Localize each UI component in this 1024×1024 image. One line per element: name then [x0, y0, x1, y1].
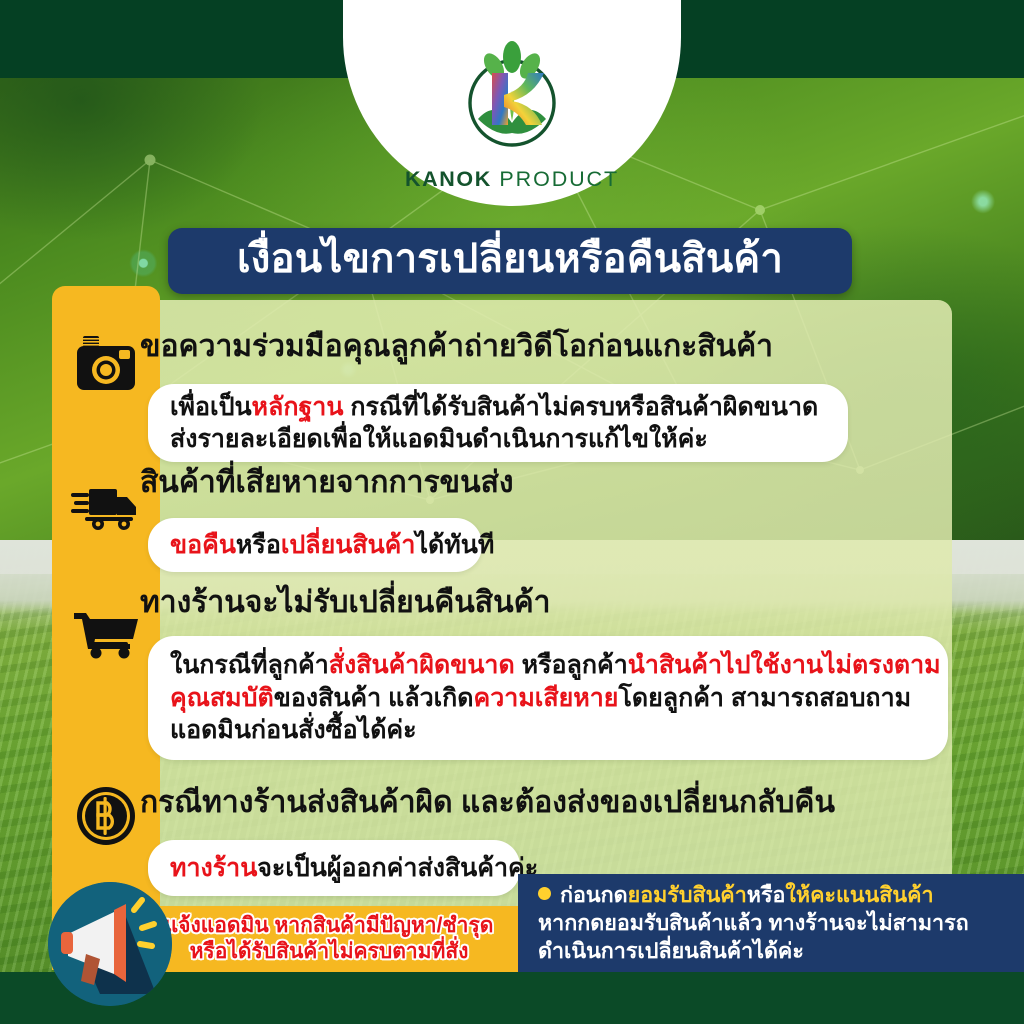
leaf-k-monogram-logo-icon: [448, 33, 576, 161]
section-heading-1-text: ขอความร่วมมือคุณลูกค้าถ่ายวิดีโอก่อนแกะส…: [140, 330, 773, 363]
section-heading-1: ขอความร่วมมือคุณลูกค้าถ่ายวิดีโอก่อนแกะส…: [140, 330, 773, 363]
section-heading-3: ทางร้านจะไม่รับเปลี่ยนคืนสินค้า: [140, 586, 551, 619]
bubble-line: ทางร้านจะเป็นผู้ออกค่าส่งสินค้าค่ะ: [148, 852, 520, 885]
section-heading-3-text: ทางร้านจะไม่รับเปลี่ยนคืนสินค้า: [140, 586, 551, 619]
bubble-line: เพื่อเป็นหลักฐาน กรณีที่ได้รับสินค้าไม่ค…: [148, 391, 848, 424]
bubble-line: ขอคืนหรือเปลี่ยนสินค้าได้ทันที: [148, 529, 482, 562]
footer-note-line: ก่อนกดยอมรับสินค้าหรือให้คะแนนสินค้า: [538, 882, 1024, 910]
section-bubble-4: ทางร้านจะเป็นผู้ออกค่าส่งสินค้าค่ะ: [148, 840, 520, 896]
brand-name-light: PRODUCT: [499, 167, 619, 191]
page-title-banner: เงื่อนไขการเปลี่ยนหรือคืนสินค้า: [168, 228, 852, 294]
footer-note-line: หากกดยอมรับสินค้าแล้ว ทางร้านจะไม่สามารถ: [538, 910, 1024, 938]
section-heading-4-text: กรณีทางร้านส่งสินค้าผิด และต้องส่งของเปล…: [140, 786, 835, 819]
footer-alert-line: หรือได้รับสินค้าไม่ครบตามที่สั่ง: [190, 939, 469, 965]
bubble-line: ส่งรายละเอียดเพื่อให้แอดมินดำเนินการแก้ไ…: [148, 423, 848, 456]
footer-alert-line: แจ้งแอดมิน หากสินค้ามีปัญหา/ชำรุด: [165, 913, 494, 939]
section-bubble-3: ในกรณีที่ลูกค้าสั่งสินค้าผิดขนาด หรือลูก…: [148, 636, 948, 760]
bubble-line: คุณสมบัติของสินค้า แล้วเกิดความเสียหายโด…: [148, 682, 948, 715]
bubble-line: ในกรณีที่ลูกค้าสั่งสินค้าผิดขนาด หรือลูก…: [148, 649, 948, 682]
bubble-line: แอดมินก่อนสั่งซื้อได้ค่ะ: [148, 714, 948, 747]
footer-note-panel: ก่อนกดยอมรับสินค้าหรือให้คะแนนสินค้า หาก…: [518, 874, 1024, 972]
footer-alert-banner: แจ้งแอดมิน หากสินค้ามีปัญหา/ชำรุด หรือได…: [140, 906, 518, 972]
section-heading-2: สินค้าที่เสียหายจากการขนส่ง: [140, 466, 514, 499]
bullet-dot-icon: [538, 887, 551, 900]
infographic-canvas: KANOK PRODUCT เงื่อนไขการเปลี่ยนหรือคืนส…: [0, 0, 1024, 1024]
section-heading-4: กรณีทางร้านส่งสินค้าผิด และต้องส่งของเปล…: [140, 786, 835, 819]
section-bubble-1: เพื่อเป็นหลักฐาน กรณีที่ได้รับสินค้าไม่ค…: [148, 384, 848, 462]
footer-note-line: ดำเนินการเปลี่ยนสินค้าได้ค่ะ: [538, 938, 1024, 966]
section-heading-2-text: สินค้าที่เสียหายจากการขนส่ง: [140, 466, 514, 499]
page-title: เงื่อนไขการเปลี่ยนหรือคืนสินค้า: [237, 239, 783, 279]
section-bubble-2: ขอคืนหรือเปลี่ยนสินค้าได้ทันที: [148, 518, 482, 572]
megaphone-icon: [48, 882, 172, 1006]
brand-name-bold: KANOK: [405, 167, 492, 191]
brand-wordmark: KANOK PRODUCT: [405, 167, 619, 192]
